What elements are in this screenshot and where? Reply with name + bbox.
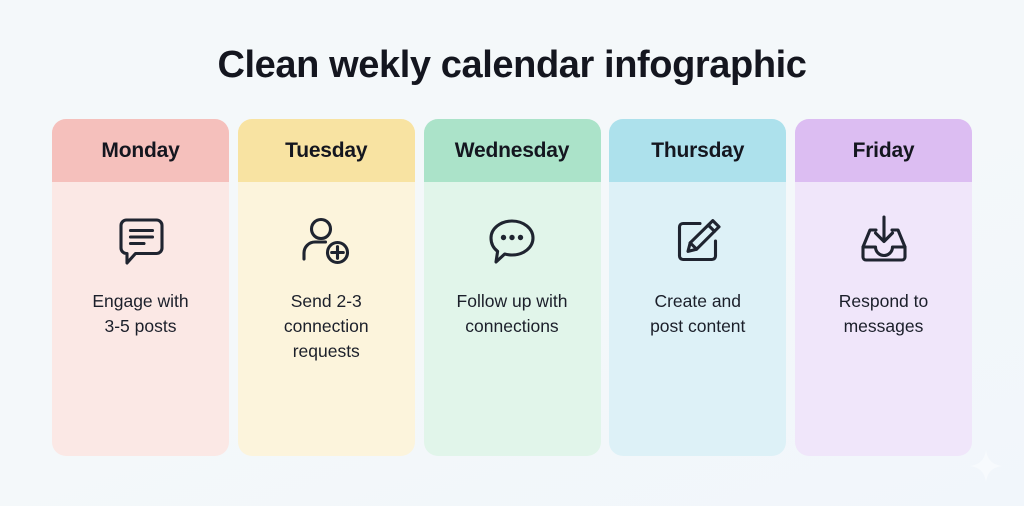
day-card-monday[interactable]: Monday Engage with 3-5 posts xyxy=(52,119,229,456)
day-card-body-wednesday: Follow up with connections xyxy=(424,182,601,456)
day-card-header-wednesday: Wednesday xyxy=(424,119,601,182)
day-label-wednesday: Wednesday xyxy=(455,139,570,163)
day-card-body-friday: Respond to messages xyxy=(795,182,972,456)
day-card-header-tuesday: Tuesday xyxy=(238,119,415,182)
day-text-friday: Respond to messages xyxy=(829,289,939,339)
infographic-canvas: Clean wekly calendar infographic Monday … xyxy=(0,0,1024,506)
day-card-header-thursday: Thursday xyxy=(609,119,786,182)
day-card-header-monday: Monday xyxy=(52,119,229,182)
day-label-thursday: Thursday xyxy=(651,139,744,163)
day-text-thursday: Create and post content xyxy=(640,289,755,339)
person-add-icon xyxy=(295,210,357,272)
day-card-body-thursday: Create and post content xyxy=(609,182,786,456)
day-card-list: Monday Engage with 3-5 posts Tuesday xyxy=(52,119,972,456)
pencil-square-icon xyxy=(667,210,729,272)
day-card-tuesday[interactable]: Tuesday Send 2-3 connection requests xyxy=(238,119,415,456)
speech-dots-icon xyxy=(481,210,543,272)
day-card-friday[interactable]: Friday Respond to messages xyxy=(795,119,972,456)
day-text-tuesday: Send 2-3 connection requests xyxy=(274,289,379,364)
sparkle-star-watermark xyxy=(968,448,1004,484)
chat-lines-icon xyxy=(110,210,172,272)
day-card-body-monday: Engage with 3-5 posts xyxy=(52,182,229,456)
day-card-thursday[interactable]: Thursday Create and post content xyxy=(609,119,786,456)
day-card-wednesday[interactable]: Wednesday Follow up with connections xyxy=(424,119,601,456)
day-label-tuesday: Tuesday xyxy=(285,139,367,163)
inbox-download-icon xyxy=(853,210,915,272)
day-label-friday: Friday xyxy=(853,139,915,163)
day-text-monday: Engage with 3-5 posts xyxy=(82,289,198,339)
day-card-body-tuesday: Send 2-3 connection requests xyxy=(238,182,415,456)
day-text-wednesday: Follow up with connections xyxy=(447,289,578,339)
page-title: Clean wekly calendar infographic xyxy=(0,44,1024,87)
day-label-monday: Monday xyxy=(101,139,179,163)
day-card-header-friday: Friday xyxy=(795,119,972,182)
